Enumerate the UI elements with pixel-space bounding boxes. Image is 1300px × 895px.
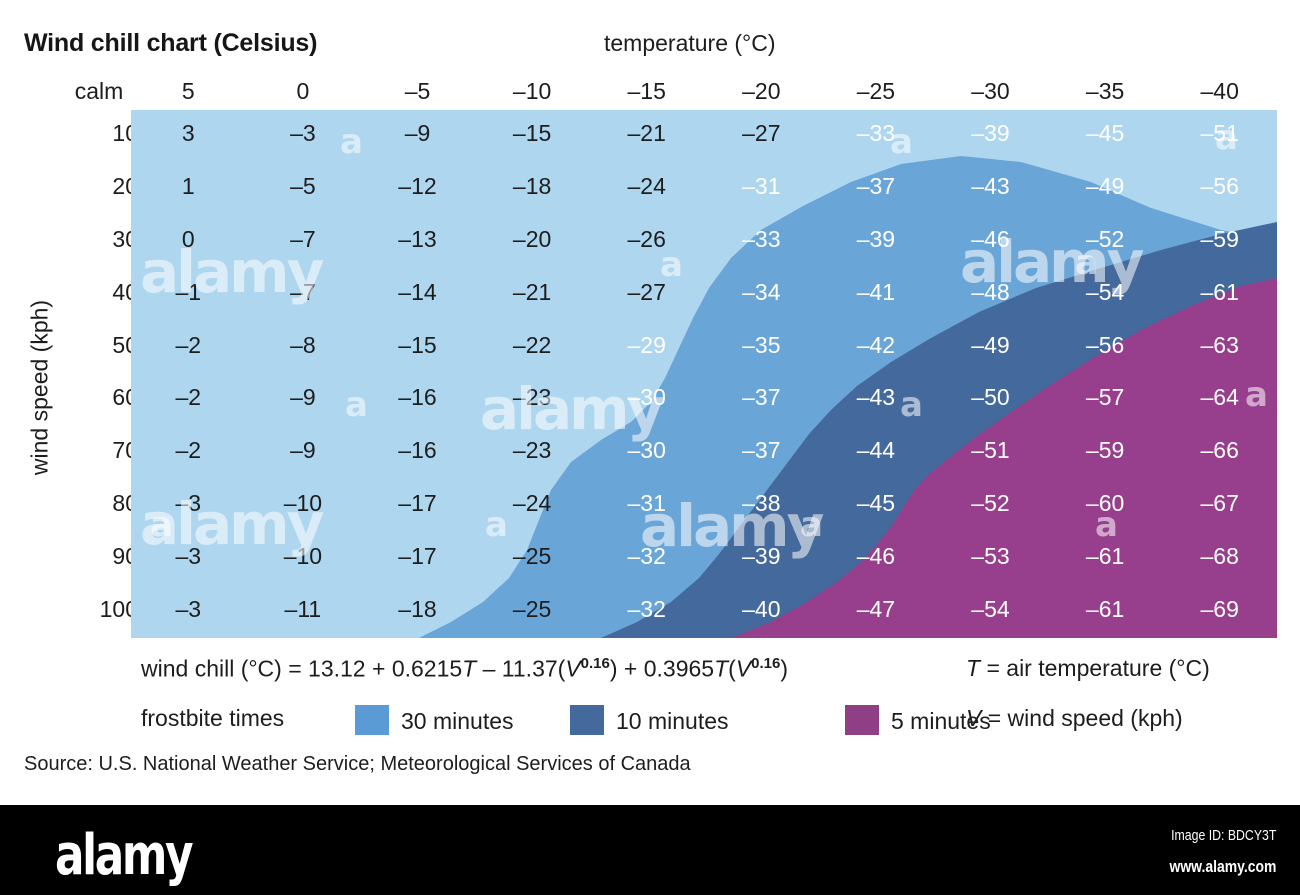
table-cell: –20 — [475, 226, 590, 253]
table-cell: –44 — [819, 437, 934, 464]
table-cell: –27 — [589, 279, 704, 306]
table-cell: 3 — [131, 120, 246, 147]
table-cell: –39 — [933, 120, 1048, 147]
table-cell: –56 — [1048, 332, 1163, 359]
table-cell: –61 — [1162, 279, 1277, 306]
table-cell: –30 — [589, 437, 704, 464]
table-cell: –63 — [1162, 332, 1277, 359]
column-header-temp-0: 5 — [131, 78, 246, 105]
table-cell: –61 — [1048, 596, 1163, 623]
table-cell: –17 — [360, 490, 475, 517]
table-cell: –33 — [704, 226, 819, 253]
table-cell: –45 — [819, 490, 934, 517]
table-cell: –39 — [704, 543, 819, 570]
column-header-temp-5: –20 — [704, 78, 819, 105]
table-cell: –18 — [475, 173, 590, 200]
table-cell: –14 — [360, 279, 475, 306]
table-cell: –53 — [933, 543, 1048, 570]
legend-label: 5 minutes — [891, 708, 991, 734]
table-cell: –1 — [131, 279, 246, 306]
row-header-wind-50: 50 — [52, 332, 138, 359]
formula-part-e: ) — [780, 656, 788, 682]
legend-swatch-icon — [355, 705, 389, 735]
alamy-logo: alamy — [55, 823, 191, 888]
table-cell: 1 — [131, 173, 246, 200]
table-cell: –2 — [131, 437, 246, 464]
chart-plot-area: 3–3–9–15–21–27–33–39–45–511–5–12–18–24–3… — [131, 110, 1277, 638]
table-cell: –37 — [704, 437, 819, 464]
table-cell: –25 — [475, 596, 590, 623]
formula-var-T2: T — [714, 656, 728, 682]
table-cell: –51 — [933, 437, 1048, 464]
table-cell: –43 — [933, 173, 1048, 200]
column-header-temp-1: 0 — [246, 78, 361, 105]
table-cell: –48 — [933, 279, 1048, 306]
formula-exponent-2: 0.16 — [751, 655, 780, 672]
page-title: Wind chill chart (Celsius) — [24, 29, 317, 58]
table-cell: –10 — [246, 490, 361, 517]
table-cell: –38 — [704, 490, 819, 517]
table-cell: –25 — [475, 543, 590, 570]
table-cell: –37 — [819, 173, 934, 200]
column-header-temp-3: –10 — [475, 78, 590, 105]
table-cell: –17 — [360, 543, 475, 570]
row-header-wind-100: 100 — [52, 596, 138, 623]
table-cell: –60 — [1048, 490, 1163, 517]
table-cell: –15 — [475, 120, 590, 147]
table-cell: –32 — [589, 596, 704, 623]
row-header-wind-80: 80 — [52, 490, 138, 517]
row-header-wind-10: 10 — [52, 120, 138, 147]
variable-V-text: = wind speed (kph) — [981, 705, 1182, 731]
variable-T-text: = air temperature (°C) — [980, 655, 1210, 681]
table-cell: –3 — [246, 120, 361, 147]
formula-part-a: 13.12 + 0.6215 — [308, 656, 462, 682]
table-cell: –49 — [1048, 173, 1163, 200]
alamy-url[interactable]: www.alamy.com — [1169, 857, 1276, 877]
table-cell: –59 — [1048, 437, 1163, 464]
legend-swatch-icon — [845, 705, 879, 735]
table-cell: –18 — [360, 596, 475, 623]
table-cell: –30 — [589, 384, 704, 411]
table-cell: –52 — [933, 490, 1048, 517]
table-cell: –13 — [360, 226, 475, 253]
table-cell: –56 — [1162, 173, 1277, 200]
variable-T: T — [966, 655, 980, 681]
legend-item-0: 30 minutes — [355, 705, 514, 735]
table-cell: –35 — [704, 332, 819, 359]
table-cell: –16 — [360, 437, 475, 464]
table-cell: –9 — [246, 384, 361, 411]
formula-exponent-1: 0.16 — [581, 655, 610, 672]
footer-bar: alamy Image ID: BDCY3T www.alamy.com — [0, 805, 1300, 895]
table-cell: –5 — [246, 173, 361, 200]
table-cell: –43 — [819, 384, 934, 411]
table-cell: –68 — [1162, 543, 1277, 570]
table-cell: –59 — [1162, 226, 1277, 253]
legend-label: 30 minutes — [401, 708, 514, 734]
table-cell: –21 — [589, 120, 704, 147]
table-cell: –23 — [475, 384, 590, 411]
table-cell: –9 — [246, 437, 361, 464]
wind-chill-formula: wind chill (°C) = 13.12 + 0.6215T – 11.3… — [141, 655, 788, 683]
table-cell: –54 — [1048, 279, 1163, 306]
table-cell: –3 — [131, 596, 246, 623]
table-cell: –32 — [589, 543, 704, 570]
table-cell: –50 — [933, 384, 1048, 411]
column-header-temp-8: –35 — [1048, 78, 1163, 105]
table-cell: –41 — [819, 279, 934, 306]
formula-part-b: – 11.37( — [476, 656, 565, 682]
legend-item-1: 10 minutes — [570, 705, 729, 735]
table-cell: –42 — [819, 332, 934, 359]
table-cell: –46 — [819, 543, 934, 570]
table-cell: –69 — [1162, 596, 1277, 623]
table-cell: –2 — [131, 332, 246, 359]
formula-label: wind chill (°C) = — [141, 656, 308, 682]
column-header-temp-7: –30 — [933, 78, 1048, 105]
row-header-wind-40: 40 — [52, 279, 138, 306]
table-cell: –66 — [1162, 437, 1277, 464]
table-cell: –33 — [819, 120, 934, 147]
table-cell: –54 — [933, 596, 1048, 623]
row-header-wind-90: 90 — [52, 543, 138, 570]
table-cell: –39 — [819, 226, 934, 253]
table-cell: –24 — [475, 490, 590, 517]
column-header-temp-9: –40 — [1162, 78, 1277, 105]
temperature-variable-definition: T = air temperature (°C) — [966, 655, 1210, 682]
table-cell: –8 — [246, 332, 361, 359]
table-cell: –16 — [360, 384, 475, 411]
wind-speed-axis-label: wind speed (kph) — [27, 238, 54, 538]
row-header-wind-60: 60 — [52, 384, 138, 411]
table-cell: –22 — [475, 332, 590, 359]
table-cell: –64 — [1162, 384, 1277, 411]
table-cell: –12 — [360, 173, 475, 200]
table-cell: –34 — [704, 279, 819, 306]
table-cell: –67 — [1162, 490, 1277, 517]
formula-var-V2: V — [736, 656, 751, 682]
table-cell: –9 — [360, 120, 475, 147]
table-cell: –7 — [246, 226, 361, 253]
wind-chill-chart: Wind chill chart (Celsius) temperature (… — [0, 0, 1300, 895]
table-cell: 0 — [131, 226, 246, 253]
table-cell: –2 — [131, 384, 246, 411]
calm-column-header: calm — [60, 78, 138, 105]
table-cell: –24 — [589, 173, 704, 200]
temperature-axis-label: temperature (°C) — [604, 30, 776, 57]
source-note: Source: U.S. National Weather Service; M… — [24, 753, 691, 776]
table-cell: –46 — [933, 226, 1048, 253]
formula-part-d: ( — [728, 656, 736, 682]
legend-swatch-icon — [570, 705, 604, 735]
formula-part-c: ) + 0.3965 — [610, 656, 714, 682]
image-id-label: Image ID: BDCY3T — [1171, 827, 1276, 844]
column-header-temp-2: –5 — [360, 78, 475, 105]
legend-label: 10 minutes — [616, 708, 729, 734]
table-cell: –61 — [1048, 543, 1163, 570]
table-cell: –3 — [131, 543, 246, 570]
row-header-wind-70: 70 — [52, 437, 138, 464]
table-cell: –37 — [704, 384, 819, 411]
table-cell: –51 — [1162, 120, 1277, 147]
table-cell: –21 — [475, 279, 590, 306]
formula-var-T1: T — [462, 656, 476, 682]
table-cell: –31 — [704, 173, 819, 200]
column-header-temp-6: –25 — [819, 78, 934, 105]
table-cell: –49 — [933, 332, 1048, 359]
table-cell: –15 — [360, 332, 475, 359]
column-header-temp-4: –15 — [589, 78, 704, 105]
row-header-wind-20: 20 — [52, 173, 138, 200]
table-cell: –57 — [1048, 384, 1163, 411]
table-cell: –47 — [819, 596, 934, 623]
table-cell: –3 — [131, 490, 246, 517]
table-cell: –40 — [704, 596, 819, 623]
table-cell: –10 — [246, 543, 361, 570]
table-cell: –52 — [1048, 226, 1163, 253]
table-cell: –7 — [246, 279, 361, 306]
row-header-wind-30: 30 — [52, 226, 138, 253]
legend-item-2: 5 minutes — [845, 705, 991, 735]
table-cell: –11 — [246, 596, 361, 623]
table-cell: –26 — [589, 226, 704, 253]
table-cell: –45 — [1048, 120, 1163, 147]
formula-var-V1: V — [565, 656, 580, 682]
table-cell: –23 — [475, 437, 590, 464]
legend-title: frostbite times — [141, 705, 284, 732]
windspeed-variable-definition: V = wind speed (kph) — [966, 705, 1183, 732]
table-cell: –31 — [589, 490, 704, 517]
table-cell: –27 — [704, 120, 819, 147]
table-cell: –29 — [589, 332, 704, 359]
